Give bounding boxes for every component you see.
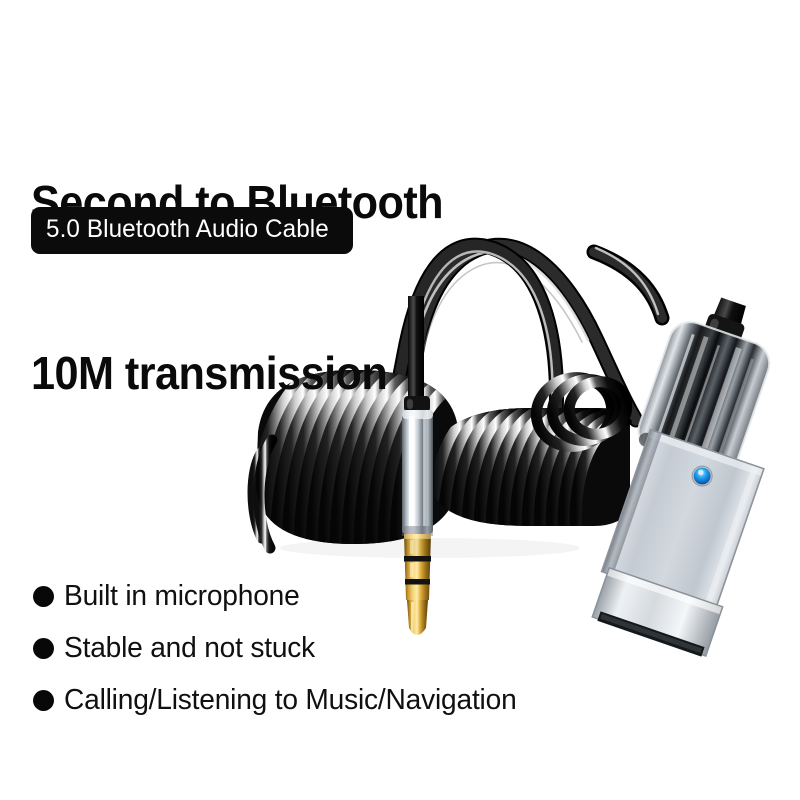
feature-list: Built in microphone Stable and not stuck… [33,572,673,728]
list-item: Stable and not stuck [33,624,673,672]
product-badge-label: 5.0 Bluetooth Audio Cable [46,216,329,243]
bullet-dot-icon [33,690,54,711]
bullet-dot-icon [33,638,54,659]
list-item: Built in microphone [33,572,673,620]
feature-label: Built in microphone [64,580,300,612]
led-indicator [691,465,712,486]
headline-line-2: 10M transmission [31,345,614,402]
bullet-dot-icon [33,586,54,607]
product-badge: 5.0 Bluetooth Audio Cable [31,207,353,254]
page-title: Second to Bluetooth 10M transmission [31,60,614,516]
list-item: Calling/Listening to Music/Navigation [33,676,673,724]
product-marketing-image: Second to Bluetooth 10M transmission 5.0… [0,0,800,800]
feature-label: Stable and not stuck [64,632,315,664]
feature-label: Calling/Listening to Music/Navigation [64,684,517,716]
